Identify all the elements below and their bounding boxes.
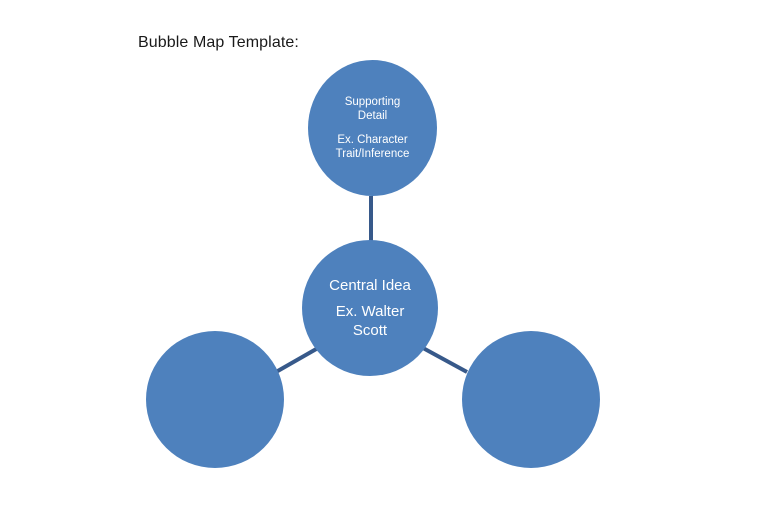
bubble-detail-left[interactable] [146, 331, 284, 468]
bubble-detail-right[interactable] [462, 331, 600, 468]
connector-central-to-right [423, 348, 467, 372]
bubble-central-idea[interactable]: Central Idea Ex. Walter Scott [302, 240, 438, 376]
bubble-supporting-detail-secondary-text: Ex. Character Trait/Inference [318, 133, 427, 161]
text-line: Ex. Character [318, 133, 427, 147]
text-line: Supporting [318, 95, 427, 109]
text-line: Detail [318, 109, 427, 123]
diagram-canvas: Bubble Map Template: Supporting Detail E… [0, 0, 768, 524]
text-line: Scott [312, 321, 428, 340]
bubble-supporting-detail[interactable]: Supporting Detail Ex. Character Trait/In… [308, 60, 437, 196]
text-line: Central Idea [312, 276, 428, 295]
text-line: Ex. Walter [312, 302, 428, 321]
connector-central-to-left [276, 348, 318, 372]
bubble-central-idea-secondary-text: Ex. Walter Scott [312, 302, 428, 340]
bubble-supporting-detail-primary-text: Supporting Detail [318, 95, 427, 123]
text-line: Trait/Inference [318, 147, 427, 161]
bubble-central-idea-primary-text: Central Idea [312, 276, 428, 295]
